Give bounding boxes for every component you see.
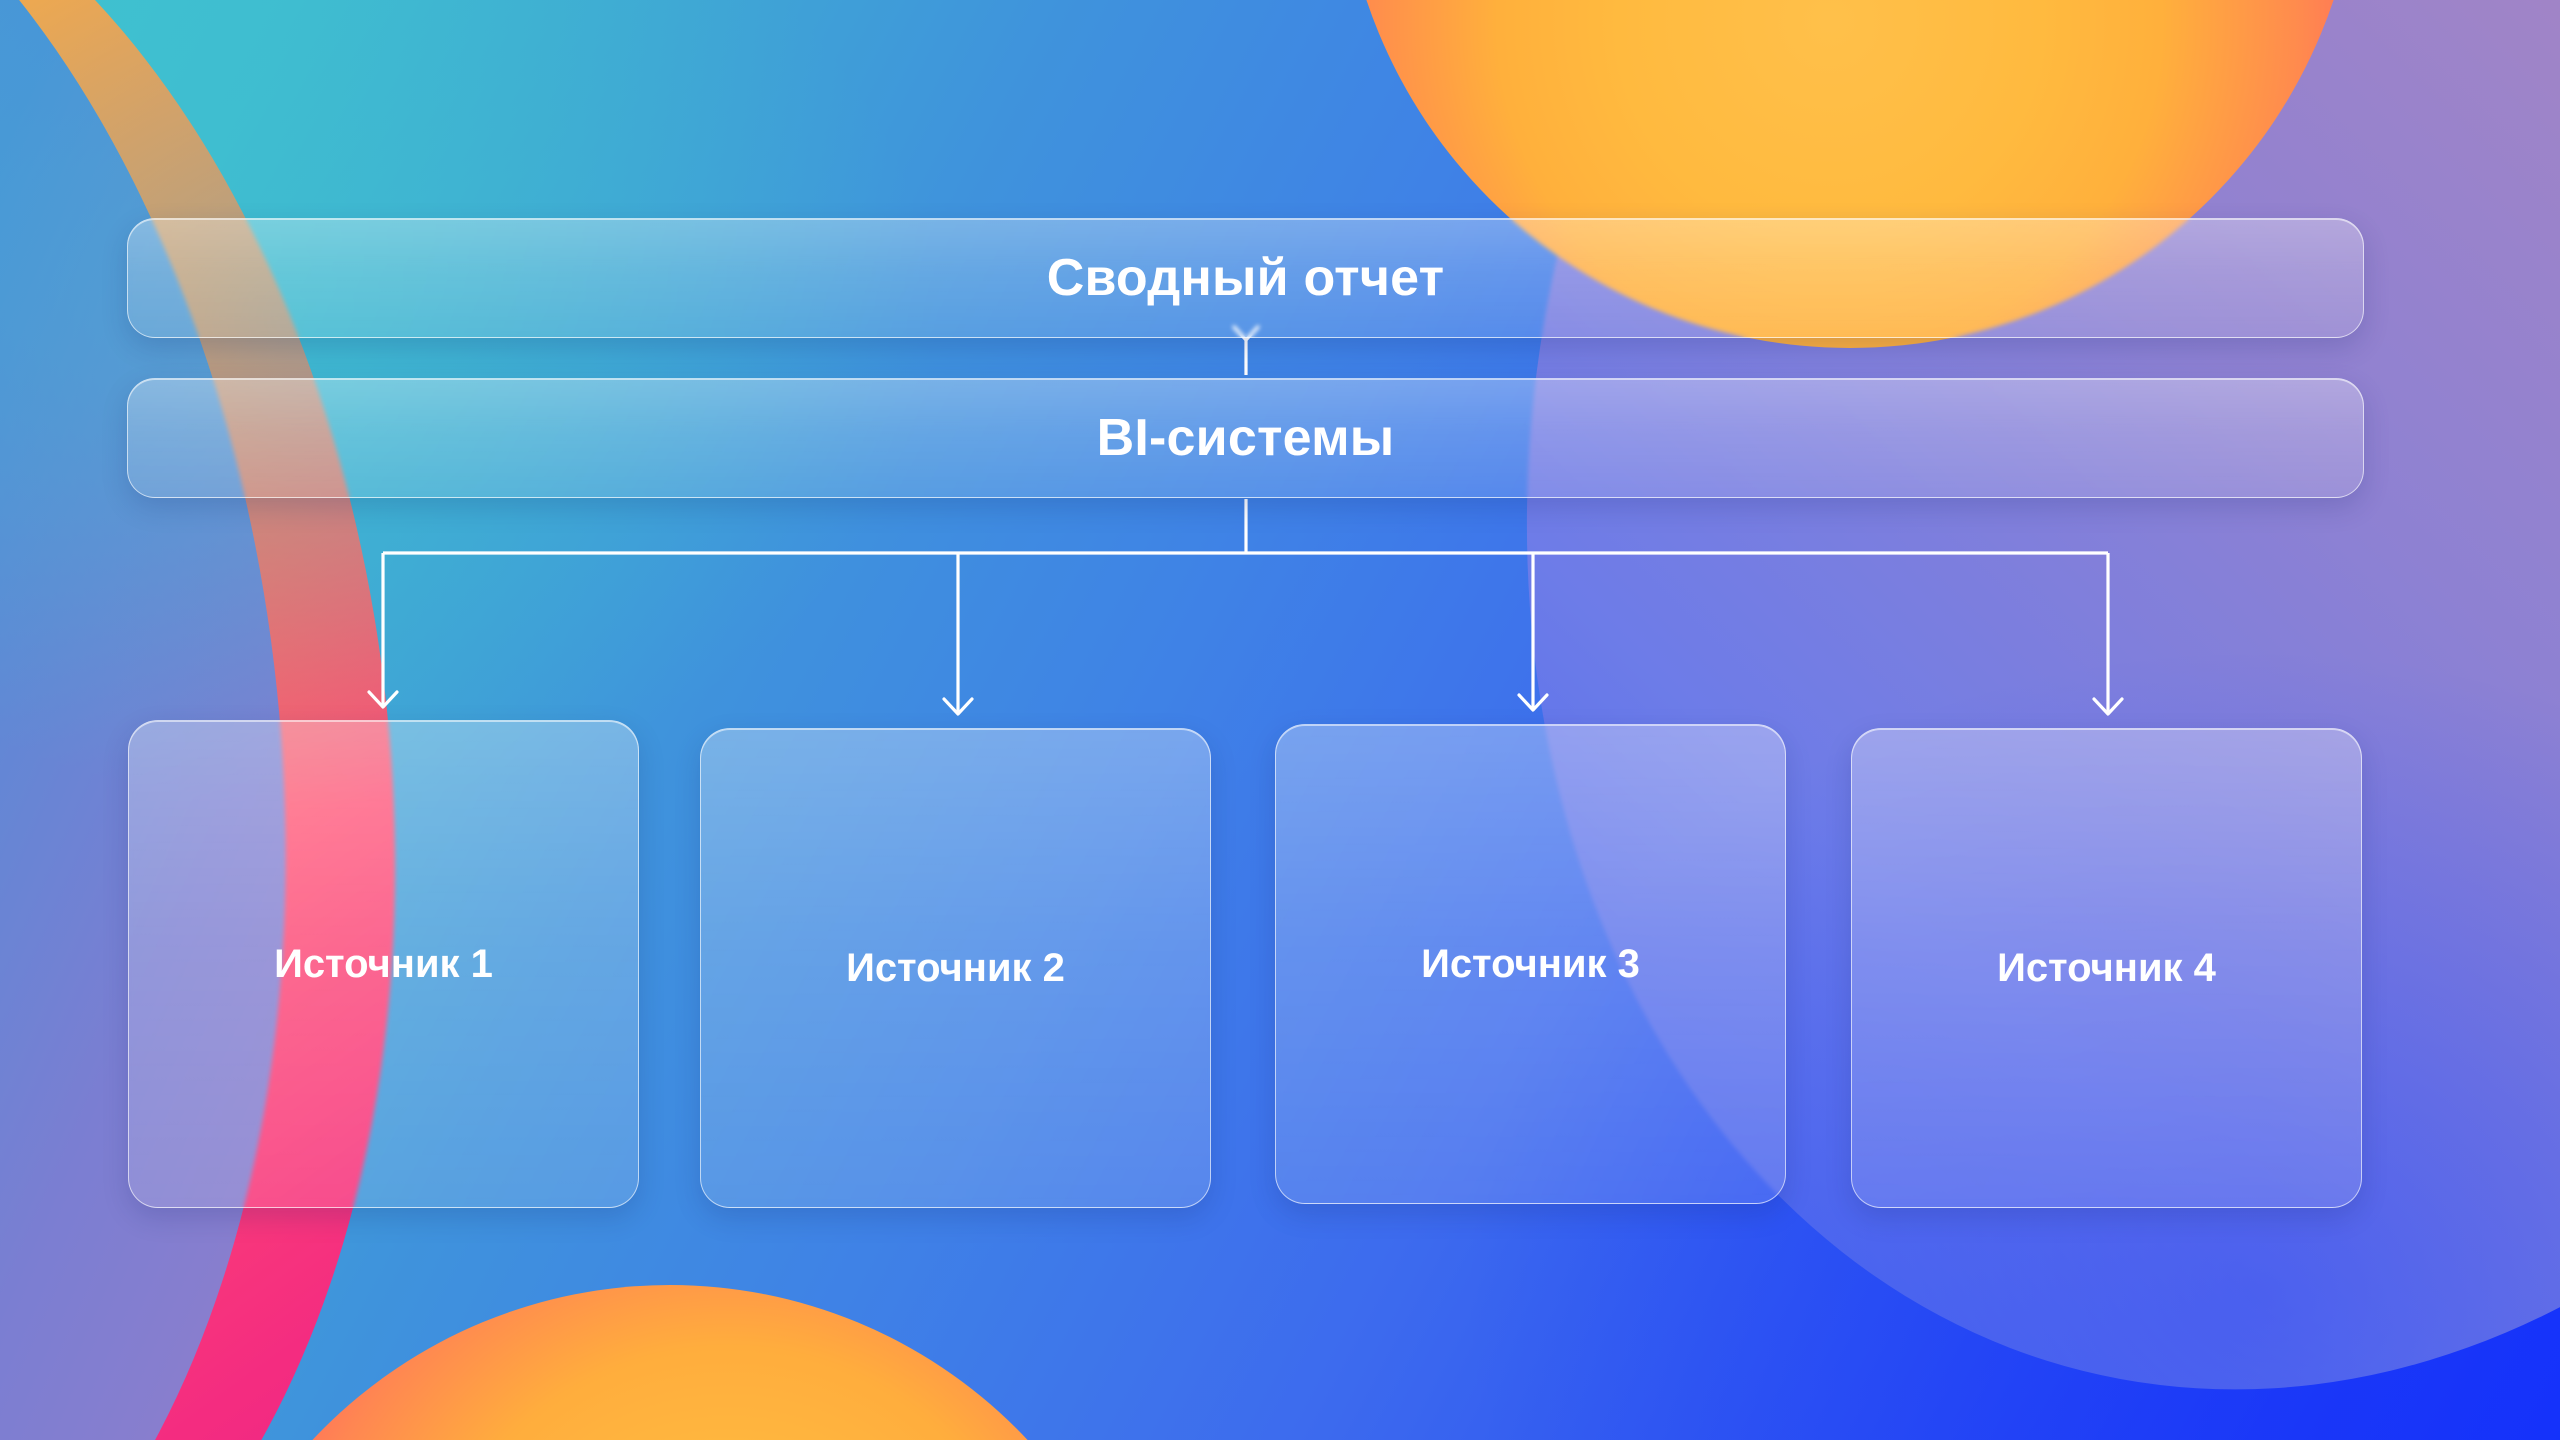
- node-svodny-otchet[interactable]: Сводный отчет: [127, 218, 2364, 338]
- slide-canvas: Сводный отчет BI-системы Источник 1 Исто…: [0, 0, 2560, 1440]
- node-label-bi: BI-системы: [1097, 408, 1395, 468]
- node-bi-systems[interactable]: BI-системы: [127, 378, 2364, 498]
- node-label-source-1: Источник 1: [274, 942, 493, 987]
- node-label-source-3: Источник 3: [1421, 942, 1640, 987]
- node-label-source-4: Источник 4: [1997, 946, 2216, 991]
- node-source-2[interactable]: Источник 2: [700, 728, 1211, 1208]
- node-label-report: Сводный отчет: [1047, 248, 1445, 308]
- node-source-1[interactable]: Источник 1: [128, 720, 639, 1208]
- node-label-source-2: Источник 2: [846, 946, 1065, 991]
- node-source-4[interactable]: Источник 4: [1851, 728, 2362, 1208]
- flow-diagram: Сводный отчет BI-системы Источник 1 Исто…: [0, 0, 2560, 1440]
- node-source-3[interactable]: Источник 3: [1275, 724, 1786, 1204]
